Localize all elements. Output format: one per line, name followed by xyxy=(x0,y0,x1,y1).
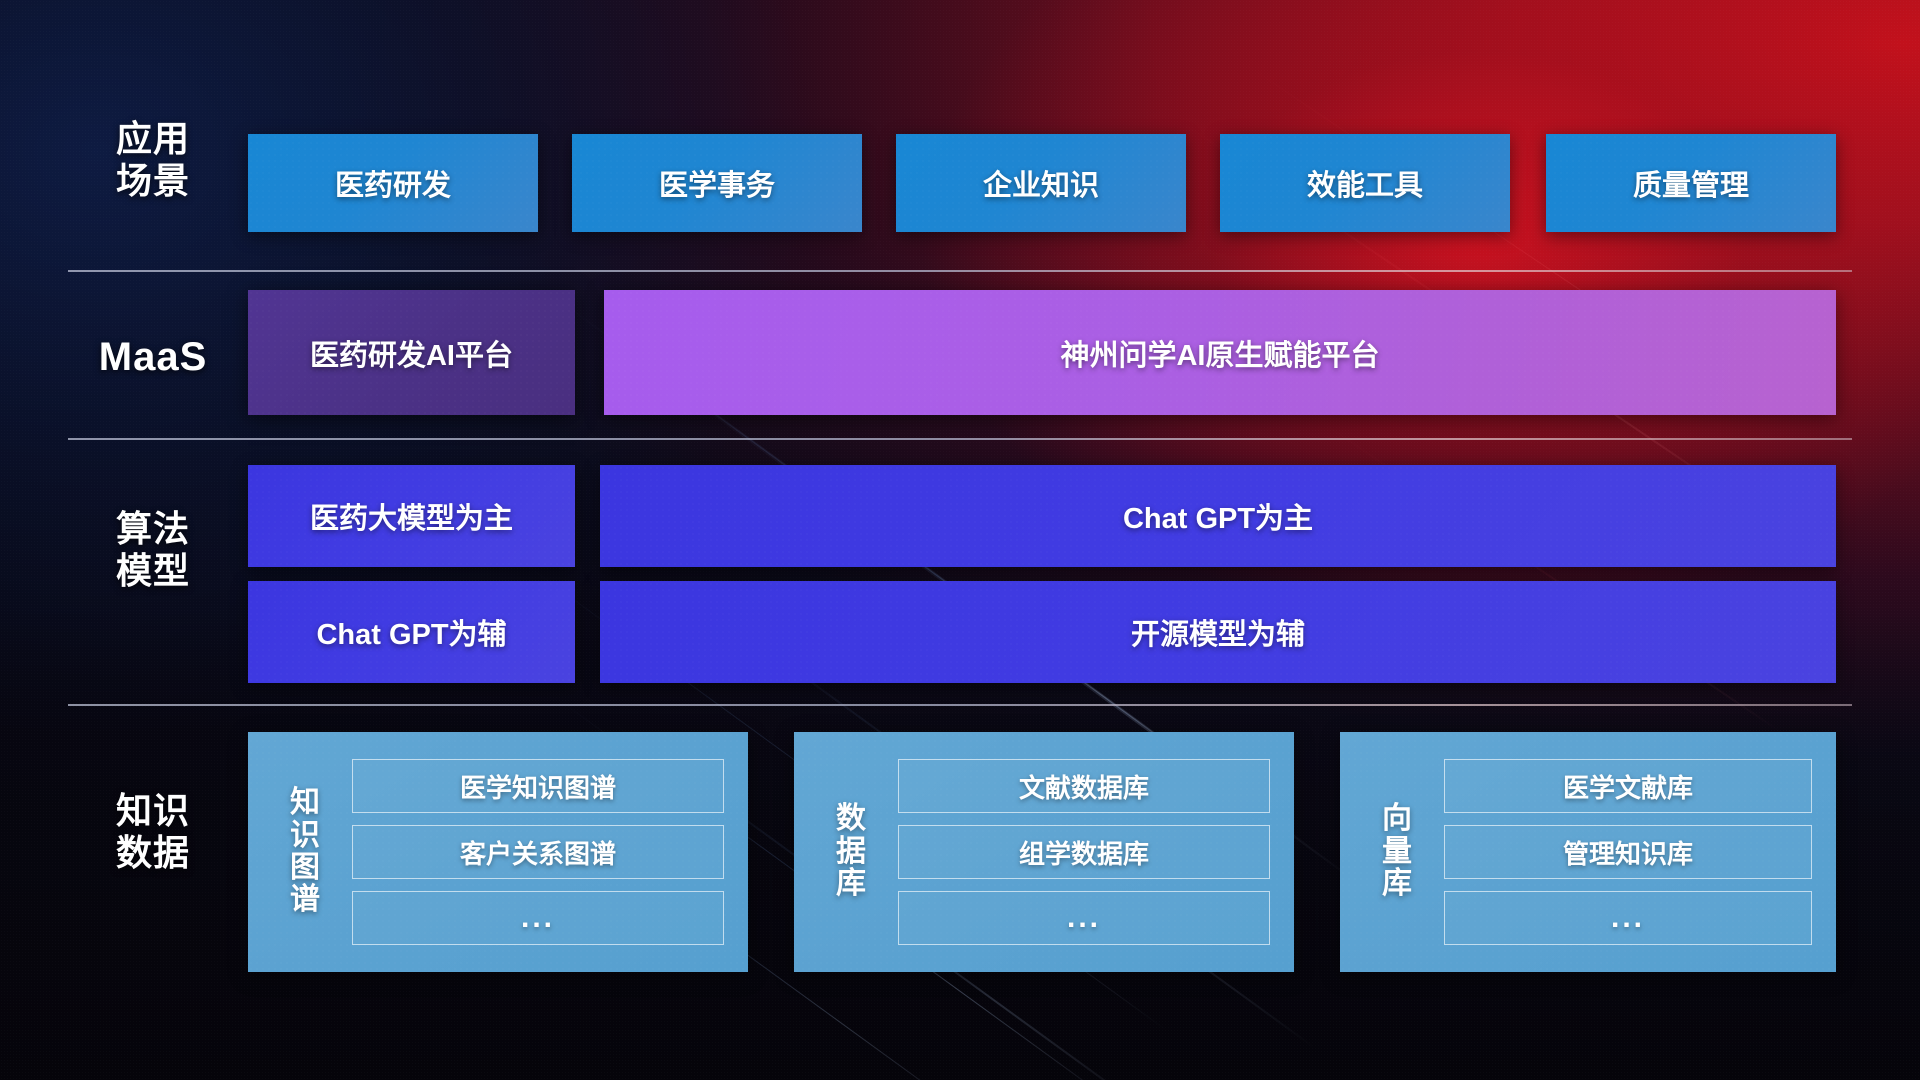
row-label-knowledge-data: 知识 数据 xyxy=(68,790,238,875)
divider-after-algorithm-model xyxy=(68,704,1852,706)
app-box-medical-affairs[interactable]: 医学事务 xyxy=(572,134,862,232)
maas-box-medicine-rnd-ai-platform[interactable]: 医药研发AI平台 xyxy=(248,290,575,415)
algo-box-chatgpt-secondary[interactable]: Chat GPT为辅 xyxy=(248,581,575,683)
knowledge-card-label: 知 识 图 谱 xyxy=(270,787,340,917)
maas-box-shenzhou-wenxue-platform[interactable]: 神州问学AI原生赋能平台 xyxy=(604,290,1836,415)
knowledge-item[interactable]: 组学数据库 xyxy=(898,825,1270,879)
algo-box-chatgpt-primary[interactable]: Chat GPT为主 xyxy=(600,465,1836,567)
label-char: 库 xyxy=(816,868,886,900)
label-char: 量 xyxy=(1362,836,1432,868)
knowledge-item[interactable]: 医学知识图谱 xyxy=(352,759,724,813)
app-box-efficiency-tools[interactable]: 效能工具 xyxy=(1220,134,1510,232)
knowledge-card-label: 数 据 库 xyxy=(816,803,886,900)
app-box-label: 医学事务 xyxy=(659,162,775,204)
knowledge-item-more[interactable]: ... xyxy=(898,891,1270,945)
algo-box-opensource-secondary[interactable]: 开源模型为辅 xyxy=(600,581,1836,683)
knowledge-item-more[interactable]: ... xyxy=(1444,891,1812,945)
label-char: 识 xyxy=(270,820,340,852)
algo-box-label: 医药大模型为主 xyxy=(310,495,513,537)
row-label-line: MaaS xyxy=(68,334,238,381)
label-char: 知 xyxy=(270,787,340,819)
algo-box-label: Chat GPT为辅 xyxy=(316,611,506,653)
diagram-canvas: 应用 场景 医药研发 医学事务 企业知识 效能工具 质量管理 MaaS xyxy=(0,0,1920,1080)
row-label-line: 算法 xyxy=(68,508,238,550)
app-box-quality-management[interactable]: 质量管理 xyxy=(1546,134,1836,232)
label-char: 图 xyxy=(270,852,340,884)
row-label-maas: MaaS xyxy=(68,334,238,381)
knowledge-item[interactable]: 医学文献库 xyxy=(1444,759,1812,813)
app-box-enterprise-knowledge[interactable]: 企业知识 xyxy=(896,134,1186,232)
app-box-medicine-rnd[interactable]: 医药研发 xyxy=(248,134,538,232)
knowledge-card-knowledge-graph[interactable]: 知 识 图 谱 医学知识图谱 客户关系图谱 ... xyxy=(248,732,748,972)
label-char: 库 xyxy=(1362,868,1432,900)
row-label-line: 数据 xyxy=(68,832,238,874)
divider-after-maas xyxy=(68,438,1852,440)
maas-box-label: 医药研发AI平台 xyxy=(310,332,513,374)
knowledge-item[interactable]: 客户关系图谱 xyxy=(352,825,724,879)
label-char: 向 xyxy=(1362,803,1432,835)
label-char: 数 xyxy=(816,803,886,835)
row-label-line: 知识 xyxy=(68,790,238,832)
label-char: 谱 xyxy=(270,884,340,916)
app-box-label: 医药研发 xyxy=(335,162,451,204)
row-label-algorithm-model: 算法 模型 xyxy=(68,508,238,593)
app-box-label: 效能工具 xyxy=(1307,162,1423,204)
knowledge-item[interactable]: 管理知识库 xyxy=(1444,825,1812,879)
app-box-label: 质量管理 xyxy=(1633,162,1749,204)
knowledge-item[interactable]: 文献数据库 xyxy=(898,759,1270,813)
algo-box-label: 开源模型为辅 xyxy=(1131,611,1305,653)
maas-box-label: 神州问学AI原生赋能平台 xyxy=(1060,332,1379,374)
divider-after-application-scenarios xyxy=(68,270,1852,272)
algo-box-medicine-large-model-primary[interactable]: 医药大模型为主 xyxy=(248,465,575,567)
knowledge-card-label: 向 量 库 xyxy=(1362,803,1432,900)
knowledge-card-vector-store[interactable]: 向 量 库 医学文献库 管理知识库 ... xyxy=(1340,732,1836,972)
row-label-line: 场景 xyxy=(68,160,238,202)
algo-box-label: Chat GPT为主 xyxy=(1123,495,1313,537)
knowledge-item-more[interactable]: ... xyxy=(352,891,724,945)
knowledge-card-database[interactable]: 数 据 库 文献数据库 组学数据库 ... xyxy=(794,732,1294,972)
row-label-line: 应用 xyxy=(68,118,238,160)
row-label-line: 模型 xyxy=(68,550,238,592)
label-char: 据 xyxy=(816,836,886,868)
app-box-label: 企业知识 xyxy=(983,162,1099,204)
row-label-application-scenarios: 应用 场景 xyxy=(68,118,238,203)
